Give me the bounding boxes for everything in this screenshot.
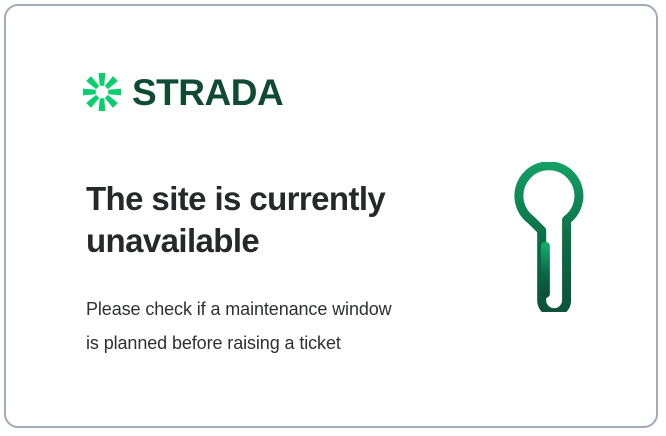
page-description: Please check if a maintenance window is …: [86, 292, 396, 360]
brand-wordmark: STRADA: [132, 74, 283, 111]
page-title: The site is currently unavailable: [86, 178, 416, 262]
strada-asterisk-icon: [80, 70, 124, 114]
error-page-screen: STRADA The site is currently unavailable…: [0, 0, 666, 436]
brand-logo: STRADA: [80, 70, 283, 114]
wrench-icon: [464, 162, 614, 312]
status-card: STRADA The site is currently unavailable…: [4, 4, 658, 428]
